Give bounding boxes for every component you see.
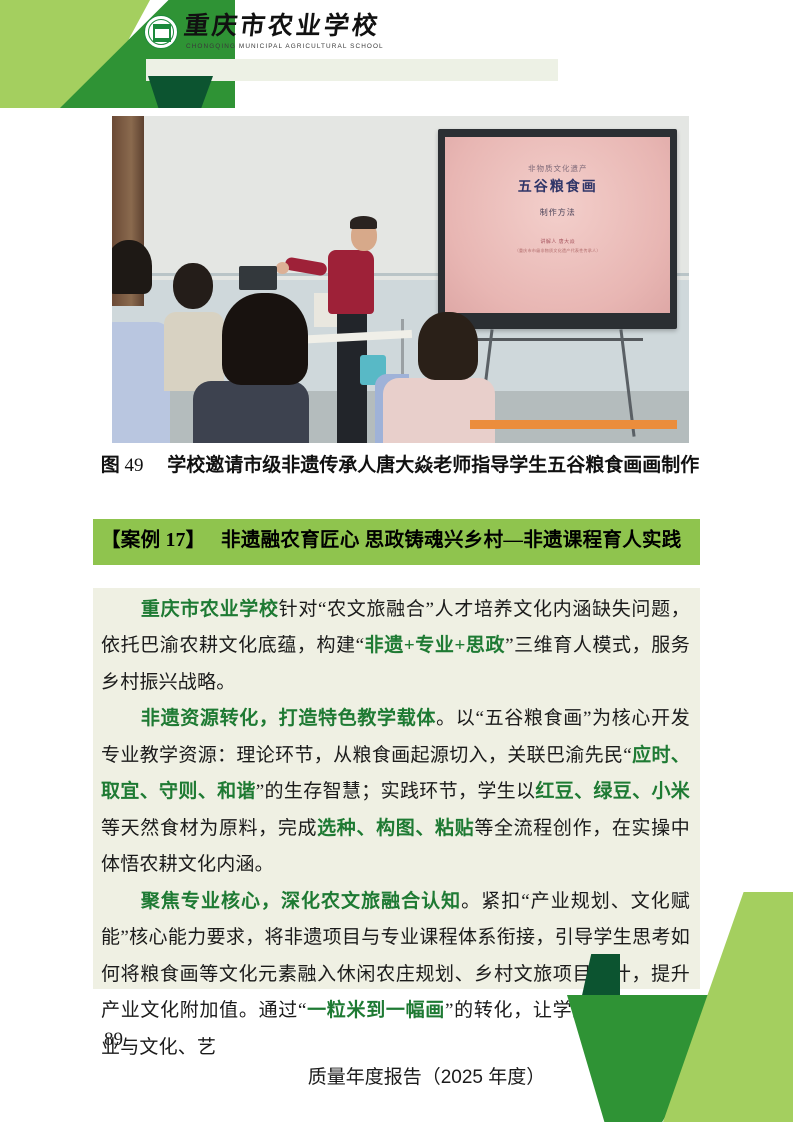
figure-caption: 图 49 学校邀请市级非遗传承人唐大焱老师指导学生五谷粮食画画制作: [100, 452, 700, 481]
paragraph2-text-c: 等天然食材为原料，完成: [101, 818, 317, 839]
student-body: [383, 378, 495, 443]
paragraph2-text-b: ”的生存智慧；实践环节，学生以: [256, 781, 536, 802]
student-head: [418, 312, 478, 380]
student-head: [222, 293, 308, 385]
highlight-school-name: 重庆市农业学校: [141, 599, 279, 620]
paragraph-resource-conversion: 非遗资源转化，打造特色教学载体。以“五谷粮食画”为核心开发专业教学资源：理论环节…: [101, 701, 690, 883]
whiteboard-screen: 非物质文化遗产 五谷粮食画 制作方法 讲解人 唐大焱 （重庆市市级非物质文化遗产…: [445, 137, 670, 313]
case-body-content: 重庆市农业学校针对“农文旅融合”人才培养文化内涵缺失问题，依托巴渝农耕文化底蕴，…: [93, 588, 700, 989]
school-seal-icon: [144, 15, 178, 49]
figure-photo: 非物质文化遗产 五谷粮食画 制作方法 讲解人 唐大焱 （重庆市市级非物质文化遗产…: [112, 116, 689, 443]
screen-line-1: 非物质文化遗产: [528, 163, 588, 174]
screen-line-2: 五谷粮食画: [518, 176, 598, 196]
school-name-cn: 重庆市农业学校: [182, 14, 385, 40]
case-title: 非遗融农育匠心 思政铸魂兴乡村—非遗课程育人实践: [221, 530, 682, 551]
student-body: [164, 312, 224, 390]
highlight-three-dimensional-model: 非遗+专业+思政: [364, 635, 505, 656]
highlight-grain-materials: 红豆、绿豆、小米: [535, 781, 690, 802]
figure-caption-text: 学校邀请市级非遗传承人唐大焱老师指导学生五谷粮食画画制作: [167, 455, 699, 476]
paragraph-overview: 重庆市农业学校针对“农文旅融合”人才培养文化内涵缺失问题，依托巴渝农耕文化底蕴，…: [101, 592, 690, 701]
student-body: [112, 322, 170, 443]
highlight-creation-steps: 选种、构图、粘贴: [317, 818, 474, 839]
figure-caption-number: 49: [125, 455, 144, 476]
case-title-bar: 【案例 17】 非遗融农育匠心 思政铸魂兴乡村—非遗课程育人实践: [93, 519, 700, 565]
page-number: 89: [104, 1029, 123, 1051]
teacher-hair: [350, 216, 377, 229]
teacher-body: [328, 250, 374, 314]
screen-line-3: 制作方法: [540, 207, 576, 218]
student-body: [193, 381, 309, 443]
laptop: [239, 266, 277, 290]
screen-line-4: 讲解人 唐大焱: [540, 238, 575, 245]
highlight-subheading-resource: 非遗资源转化，打造特色教学载体: [141, 708, 436, 729]
interactive-whiteboard: 非物质文化遗产 五谷粮食画 制作方法 讲解人 唐大焱 （重庆市市级非物质文化遗产…: [438, 129, 677, 328]
seal-emblem-icon: [153, 24, 171, 42]
case-label: 【案例 17】: [101, 530, 205, 551]
figure-caption-label: 图: [101, 455, 120, 476]
student-head: [112, 240, 152, 294]
highlight-grain-to-painting: 一粒米到一幅画: [307, 1000, 445, 1021]
screen-line-5: （重庆市市级非物质文化遗产代表性传承人）: [515, 248, 601, 254]
school-name-en: CHONGQING MUNICIPAL AGRICULTURAL SCHOOL: [186, 43, 384, 50]
student-desk: [470, 420, 678, 429]
highlight-subheading-core: 聚焦专业核心，深化农文旅融合认知: [141, 891, 461, 912]
school-logo: 重庆市农业学校 CHONGQING MUNICIPAL AGRICULTURAL…: [144, 14, 384, 56]
student-head: [173, 263, 213, 309]
teacher-hand: [276, 262, 289, 274]
